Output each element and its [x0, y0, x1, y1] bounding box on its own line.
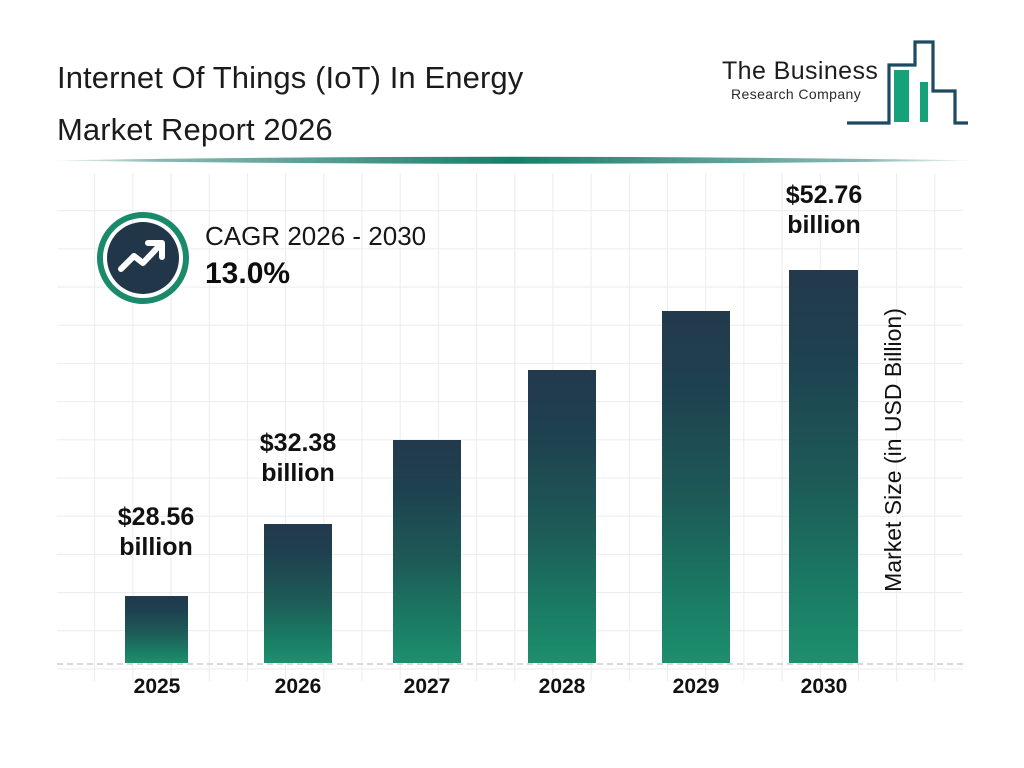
- value-label-2030-amount: $52.76: [744, 180, 904, 210]
- cagr-trending-up-icon: [97, 212, 189, 304]
- x-tick-2027: 2027: [367, 675, 487, 699]
- x-tick-2025: 2025: [97, 675, 217, 699]
- cagr-badge: CAGR 2026 - 2030 13.0%: [97, 212, 517, 308]
- bar-2027[interactable]: [393, 440, 461, 663]
- cagr-period-label: CAGR 2026 - 2030: [205, 218, 426, 254]
- value-label-2025-unit: billion: [76, 532, 236, 562]
- x-tick-2026: 2026: [238, 675, 358, 699]
- company-logo: The Business Research Company: [722, 34, 972, 134]
- value-label-2026: $32.38 billion: [218, 428, 378, 488]
- plot-area: $28.56 billion $32.38 billion $52.76 bil…: [0, 160, 1024, 768]
- bar-2029[interactable]: [662, 311, 730, 663]
- bar-2030[interactable]: [789, 270, 858, 663]
- bar-chart: $28.56 billion $32.38 billion $52.76 bil…: [0, 160, 1024, 768]
- page-title: Internet Of Things (IoT) In Energy Marke…: [57, 52, 697, 156]
- x-tick-2028: 2028: [502, 675, 622, 699]
- page-title-line2: Market Report 2026: [57, 104, 697, 156]
- cagr-value: 13.0%: [205, 254, 426, 294]
- bar-chart-outline-logo-icon: [845, 34, 970, 130]
- value-label-2030-unit: billion: [744, 210, 904, 240]
- value-label-2026-amount: $32.38: [218, 428, 378, 458]
- value-label-2030: $52.76 billion: [744, 180, 904, 240]
- axis-baseline: [57, 663, 963, 665]
- bar-2028[interactable]: [528, 370, 596, 663]
- page-title-line1: Internet Of Things (IoT) In Energy: [57, 52, 697, 104]
- x-tick-2030: 2030: [764, 675, 884, 699]
- bar-2025[interactable]: [125, 596, 188, 663]
- value-label-2026-unit: billion: [218, 458, 378, 488]
- cagr-text: CAGR 2026 - 2030 13.0%: [205, 218, 426, 294]
- value-label-2025: $28.56 billion: [76, 502, 236, 562]
- x-tick-2029: 2029: [636, 675, 756, 699]
- y-axis-title: Market Size (in USD Billion): [880, 270, 920, 630]
- header: Internet Of Things (IoT) In Energy Marke…: [0, 0, 1024, 160]
- slide-canvas: Internet Of Things (IoT) In Energy Marke…: [0, 0, 1024, 768]
- value-label-2025-amount: $28.56: [76, 502, 236, 532]
- bar-2026[interactable]: [264, 524, 332, 663]
